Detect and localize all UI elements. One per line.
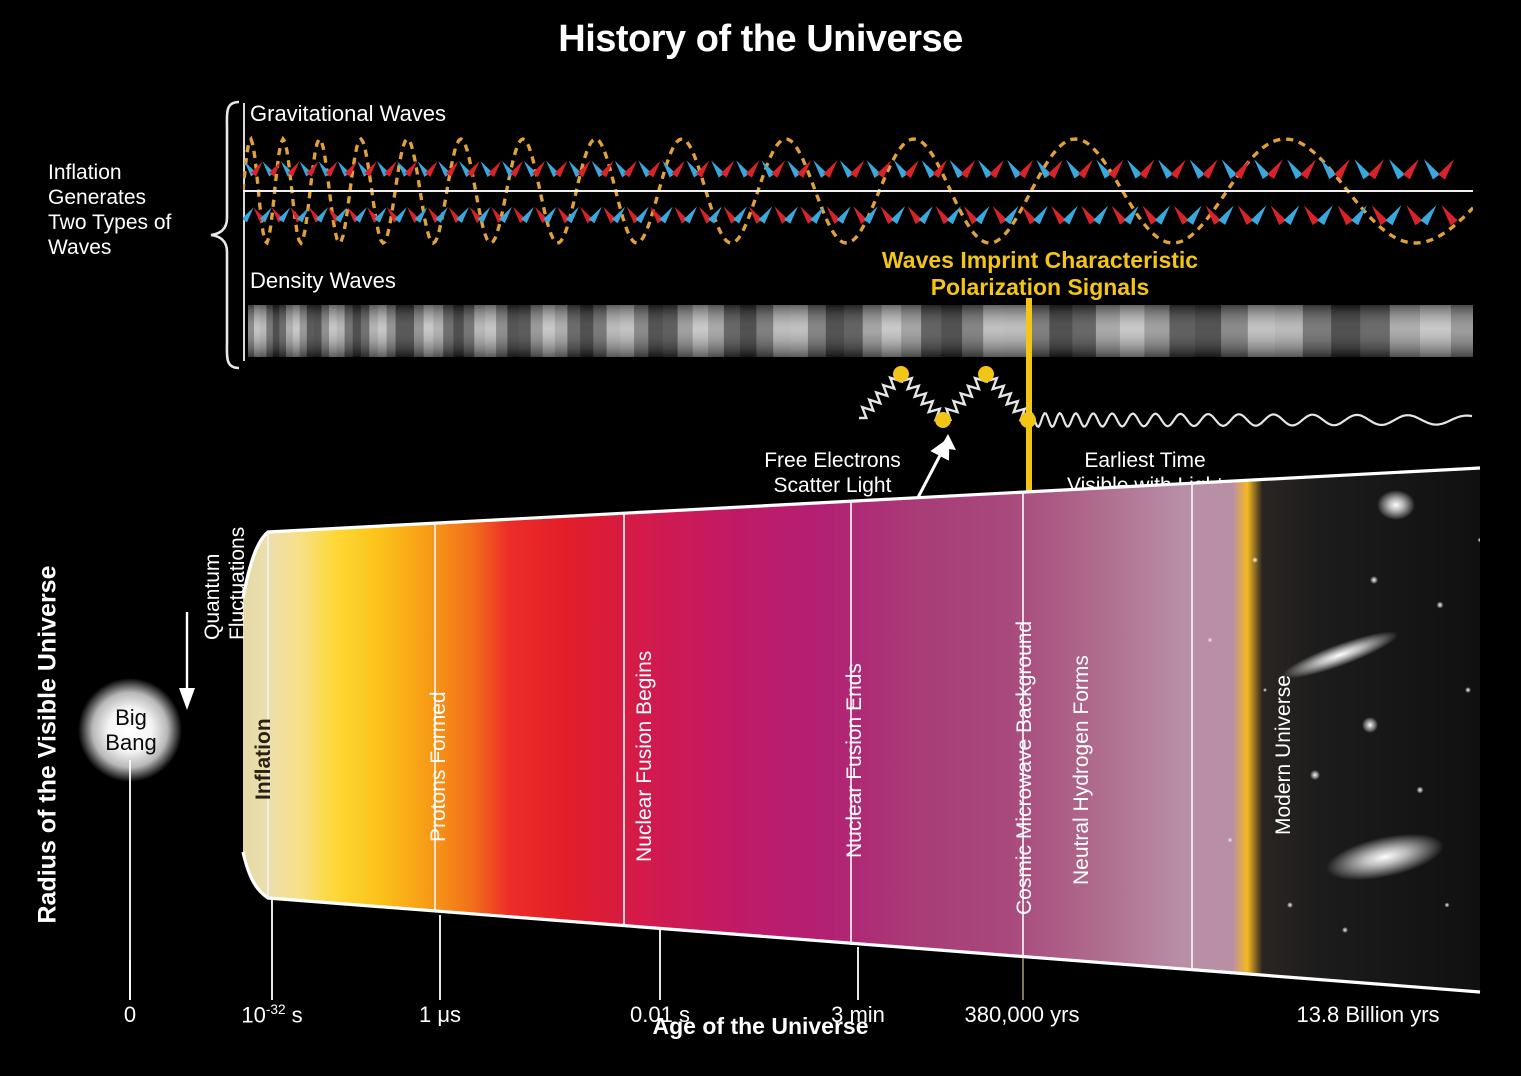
- quantum-fluctuations-arrow: [179, 612, 195, 710]
- epoch-label-nuclear-fusion-ends: Nuclear Fusion Ends: [843, 663, 867, 858]
- x-tick-label: 380,000 yrs: [932, 1002, 1112, 1028]
- epoch-label-modern-universe: Modern Universe: [1272, 675, 1296, 835]
- epoch-label-neutral-hydrogen-forms: Neutral Hydrogen Forms: [1070, 655, 1094, 885]
- epoch-label-nuclear-fusion-begins: Nuclear Fusion Begins: [633, 651, 657, 862]
- x-tick-label: 3 min: [768, 1002, 948, 1028]
- epoch-label-cosmic-microwave-background: Cosmic Microwave Background: [1013, 621, 1037, 915]
- x-tick-label: 13.8 Billion yrs: [1278, 1002, 1458, 1028]
- universe-expansion-cone: [0, 0, 1521, 1010]
- y-axis-label: Radius of the Visible Universe: [34, 535, 63, 955]
- quantum-fluctuations-label: Quantum Fluctuations: [200, 527, 250, 640]
- epoch-label-protons-formed: Protons Formed: [427, 691, 451, 842]
- x-tick-label: 0.01 s: [570, 1002, 750, 1028]
- epoch-label-inflation: Inflation: [252, 718, 276, 800]
- x-tick-label: 10-32 s: [182, 1002, 362, 1028]
- x-tick-label: 1 μs: [350, 1002, 530, 1028]
- big-bang-label: Big Bang: [96, 705, 166, 755]
